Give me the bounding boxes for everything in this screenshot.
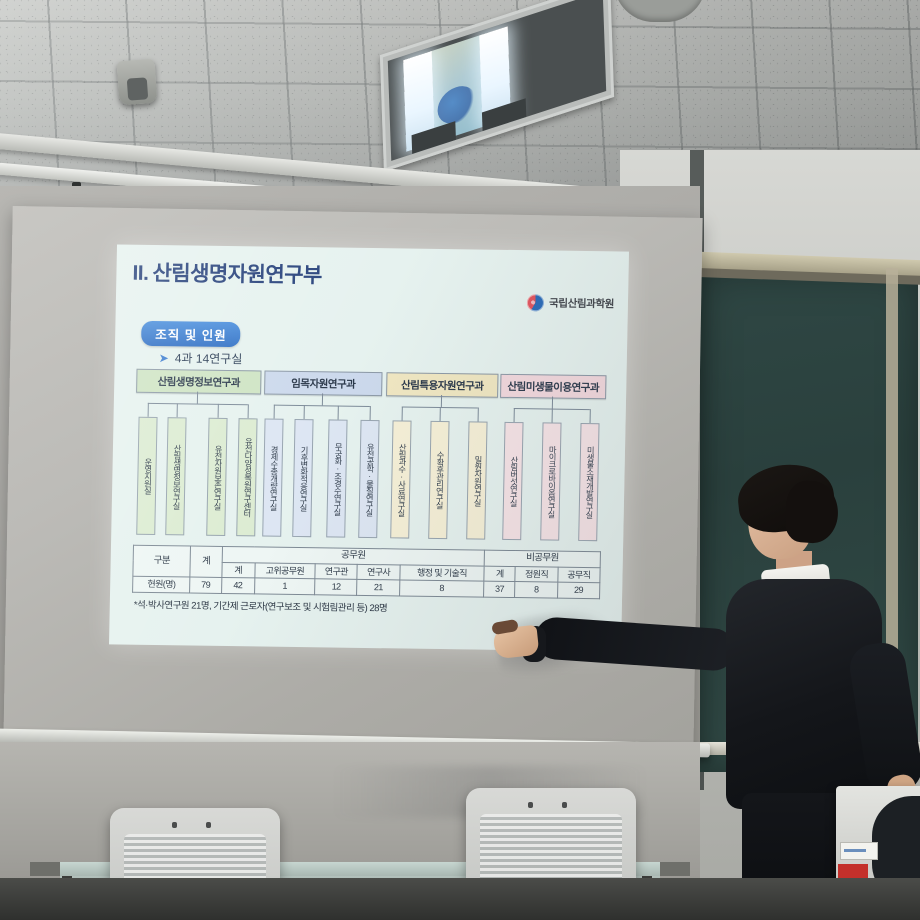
connector [402,406,403,420]
connector [248,404,249,418]
taegeuk-swirl-icon [527,294,544,311]
connector [177,403,178,417]
chair-screw [528,802,533,808]
lab-box: 산림생명정보연구실 [165,417,186,535]
th-admin-tech: 행정 및 기술직 [400,565,485,582]
dept-box: 산림생명정보연구과 [136,369,261,395]
connector [218,404,219,418]
th-total: 계 [190,546,222,578]
bullet-text: 4과 14연구실 [175,349,243,367]
td-fixed-staff: 8 [515,582,557,598]
org-group-green: 산림생명정보연구과 운영지원실 산림생명정보연구실 유전자원보존연구실 유전다양… [137,369,260,371]
connector [148,403,248,405]
th-researcher-jr: 연구사 [357,564,400,580]
td-row-label: 현원(명) [133,576,191,592]
presentation-slide: II.산림생명자원연구부 국립산림과학원 조직 및 인원 ➤ 4과 14연구실 … [109,244,629,651]
td-senior-official: 1 [254,578,315,594]
projected-slide-area: II.산림생명자원연구부 국립산림과학원 조직 및 인원 ➤ 4과 14연구실 … [109,244,629,651]
slide-title: II.산림생명자원연구부 [132,257,322,290]
th-fixed-staff: 정원직 [515,566,557,582]
lab-box: 산림과수·사료연구실 [390,420,411,538]
slide-footnote: *석·박사연구원 21명, 기간제 근로자(연구보조 및 시험림관리 등) 28… [134,597,388,615]
connector [322,393,323,405]
th-senior-official: 고위공무원 [255,563,316,579]
td-public-worker: 29 [557,582,600,598]
chair-screw [562,802,567,808]
connector [304,405,305,419]
connector [514,408,515,422]
lab-box: 유전다양성복원연구센터 [236,418,257,536]
lab-box: 밀원자원연구실 [466,421,487,539]
chair-screw [172,822,177,828]
dept-box: 산림특용자원연구과 [386,372,498,398]
personnel-table: 구분 계 공무원 비공무원 계 고위공무원 연구관 연구사 행정 및 기술직 계… [132,545,601,599]
th-gubun: 구분 [133,545,191,577]
dept-box: 산림미생물이용연구과 [500,374,606,399]
chair-screw [206,822,211,828]
connector [197,392,198,404]
connector [552,409,553,423]
td-total: 79 [190,577,222,593]
th-public-worker: 공무직 [557,567,600,583]
td-gm-total: 42 [221,578,254,594]
lab-box: 산림버섯연구실 [502,422,523,540]
ceiling-speaker [117,59,158,106]
org-chart: 산림생명정보연구과 운영지원실 산림생명정보연구실 유전자원보존연구실 유전다양… [133,369,604,546]
connector [274,405,370,407]
lab-box: 운영지원실 [136,417,157,535]
slide-title-text: 산림생명자원연구부 [152,262,322,287]
td-ngm-total: 37 [484,581,516,597]
org-group-blue: 임목자원연구과 경제수종개량연구실 기후변화적응연구실 무궁화·조경수연구실 유… [265,371,381,373]
td-researcher-sr: 12 [315,579,358,595]
connector [440,407,441,421]
td-researcher-jr: 21 [357,580,400,596]
lecture-room-scene: II.산림생명자원연구부 국립산림과학원 조직 및 인원 ➤ 4과 14연구실 … [0,0,920,920]
th-ngm-total: 계 [484,566,516,582]
connector [478,408,479,422]
connector [370,406,371,420]
org-group-yellow: 산림특용자원연구과 산림과수·사료연구실 수확후관리연구실 밀원자원연구실 [387,372,497,374]
lab-box: 수확후관리연구실 [428,421,449,539]
th-gm-total: 계 [221,562,254,578]
lab-box: 유전공학·물질연구실 [358,420,379,538]
lab-box: 기후변화적응연구실 [292,419,313,537]
connector [274,405,275,419]
td-admin-tech: 8 [399,580,484,597]
foreground-table [0,878,920,920]
section-pill: 조직 및 인원 [141,321,241,347]
lab-box: 무궁화·조경수연구실 [326,419,347,537]
lab-box: 미생물소재개발연구실 [578,423,599,541]
org-group-pink: 산림미생물이용연구과 산림버섯연구실 마이크로바이옴연구실 미생물소재개발연구실 [501,374,605,375]
connector [441,395,442,407]
connector [590,409,591,423]
connector [338,406,339,420]
bullet-line: ➤ 4과 14연구실 [159,349,243,367]
slide-title-numeral: II. [132,262,148,285]
dept-box: 임목자원연구과 [264,371,382,397]
institute-logo: 국립산림과학원 [527,294,614,312]
th-bigongmuwon: 비공무원 [484,550,600,568]
chevron-right-icon: ➤ [159,351,169,365]
lectern-card [840,842,878,860]
lab-box: 유전자원보존연구실 [206,418,227,536]
connector [552,397,553,409]
th-researcher-sr: 연구관 [315,564,358,580]
connector [148,403,149,417]
lab-box: 경제수종개량연구실 [262,419,283,537]
institute-logo-text: 국립산림과학원 [549,296,614,312]
lab-box: 마이크로바이옴연구실 [540,422,561,540]
